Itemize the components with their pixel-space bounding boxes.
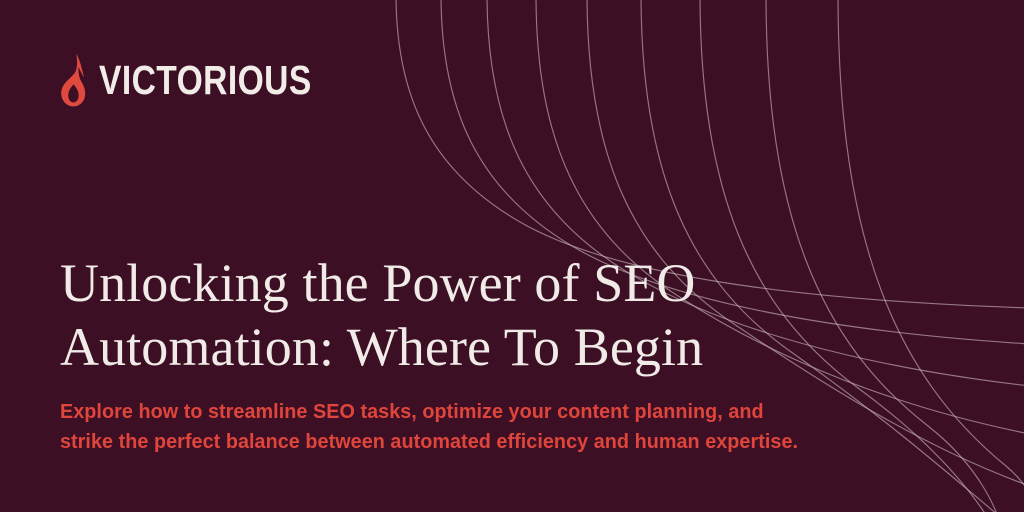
brand-wordmark: VICTORIOUS bbox=[99, 60, 312, 101]
page-title: Unlocking the Power of SEO Automation: W… bbox=[60, 252, 890, 379]
brand-logo[interactable]: VICTORIOUS bbox=[56, 52, 358, 108]
page-subtitle: Explore how to streamline SEO tasks, opt… bbox=[60, 397, 861, 455]
hero-copy: Unlocking the Power of SEO Automation: W… bbox=[60, 252, 890, 456]
flame-icon bbox=[56, 53, 89, 107]
promo-banner: VICTORIOUS Unlocking the Power of SEO Au… bbox=[0, 0, 1024, 512]
